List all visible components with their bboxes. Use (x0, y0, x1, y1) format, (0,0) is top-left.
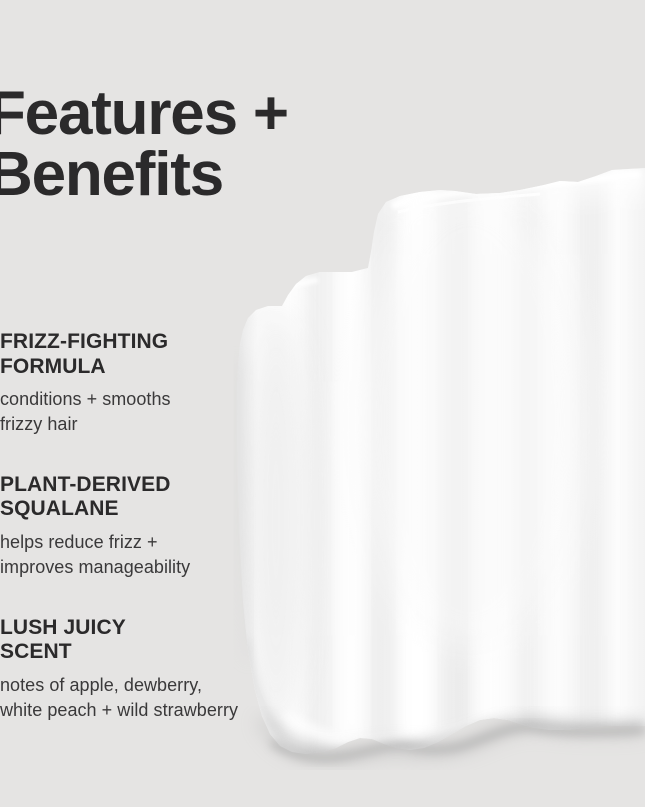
feature-block-lush-juicy-scent: LUSH JUICY SCENT notes of apple, dewberr… (0, 616, 320, 723)
feature-body: helps reduce frizz + improves manageabil… (0, 530, 320, 580)
cream-specular-top-2 (398, 194, 540, 212)
feature-title: PLANT-DERIVED SQUALANE (0, 473, 320, 522)
features-benefits-panel: Features + Benefits FRIZZ-FIGHTING FORMU… (0, 0, 645, 807)
cream-inner-shade-mid (350, 190, 590, 650)
feature-block-plant-derived-squalane: PLANT-DERIVED SQUALANE helps reduce friz… (0, 473, 320, 580)
page-title: Features + Benefits (0, 84, 288, 206)
cream-top-sheen (380, 168, 645, 226)
feature-body: notes of apple, dewberry, white peach + … (0, 673, 320, 723)
feature-list: FRIZZ-FIGHTING FORMULA conditions + smoo… (0, 330, 320, 722)
cream-ridges (300, 160, 612, 770)
feature-title: LUSH JUICY SCENT (0, 616, 320, 665)
cream-specular-top (392, 174, 640, 206)
feature-title: FRIZZ-FIGHTING FORMULA (0, 330, 320, 379)
text-column: Features + Benefits FRIZZ-FIGHTING FORMU… (0, 0, 322, 807)
feature-body: conditions + smooths frizzy hair (0, 387, 320, 437)
feature-block-frizz-fighting-formula: FRIZZ-FIGHTING FORMULA conditions + smoo… (0, 330, 320, 437)
